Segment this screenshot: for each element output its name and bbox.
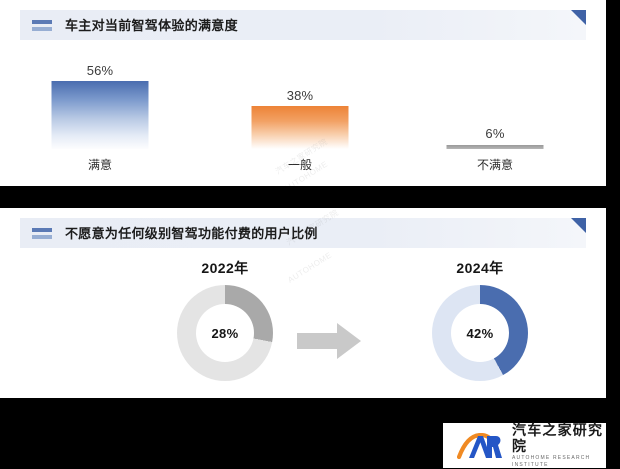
- donut-center: 28%: [196, 304, 254, 362]
- bar-group-satisfied: 56% 满意: [25, 48, 175, 173]
- willingness-card: 不愿意为任何级别智驾功能付费的用户比例 2022年 28% 2024年 42% …: [0, 208, 606, 398]
- brand-logo: 汽车之家研究院 AUTOHOME RESEARCH INSTITUTE: [443, 423, 606, 468]
- bar-value-label: 56%: [25, 63, 175, 78]
- donut-comparison-chart: 2022年 28% 2024年 42%: [0, 258, 606, 398]
- brand-name-cn: 汽车之家研究院: [512, 422, 606, 454]
- donut-year-label: 2022年: [135, 258, 315, 278]
- donut-percent-label: 42%: [467, 326, 494, 341]
- section-header-willingness: 不愿意为任何级别智驾功能付费的用户比例: [20, 218, 586, 248]
- bar-satisfied: [52, 81, 149, 149]
- donut-ring-2024: 42%: [432, 285, 528, 381]
- donut-ring-2022: 28%: [177, 285, 273, 381]
- bar-chart: 56% 满意 38% 一般 6% 不满意 汽车之家研究院 AUTOHOME: [0, 48, 606, 173]
- bar-value-label: 6%: [420, 126, 570, 141]
- ar-logo-icon: [457, 433, 503, 459]
- donut-center: 42%: [451, 304, 509, 362]
- satisfaction-card: 车主对当前智驾体验的满意度 56% 满意 38% 一般 6% 不满意 汽车之家研…: [0, 0, 606, 186]
- section-header-satisfaction: 车主对当前智驾体验的满意度: [20, 10, 586, 40]
- double-bar-icon: [32, 228, 52, 239]
- page-title: 不愿意为任何级别智驾功能付费的用户比例: [65, 227, 318, 240]
- bar-category-label: 满意: [25, 156, 175, 173]
- right-arrow-icon: [297, 320, 363, 362]
- bar-group-neutral: 38% 一般: [225, 48, 375, 173]
- bar-category-label: 不满意: [420, 156, 570, 173]
- corner-triangle-accent: [571, 218, 586, 233]
- page-title: 车主对当前智驾体验的满意度: [65, 19, 238, 32]
- bar-value-label: 38%: [225, 88, 375, 103]
- donut-year-label: 2024年: [390, 258, 570, 278]
- bar-neutral: [252, 106, 349, 149]
- donut-block-2024: 2024年 42%: [390, 258, 570, 398]
- donut-block-2022: 2022年 28%: [135, 258, 315, 398]
- double-bar-icon: [32, 20, 52, 31]
- brand-name-en: AUTOHOME RESEARCH INSTITUTE: [512, 455, 606, 469]
- bar-category-label: 一般: [225, 156, 375, 173]
- donut-percent-label: 28%: [212, 326, 239, 341]
- bar-group-dissatisfied: 6% 不满意: [420, 48, 570, 173]
- corner-triangle-accent: [571, 10, 586, 25]
- bar-dissatisfied: [447, 145, 544, 149]
